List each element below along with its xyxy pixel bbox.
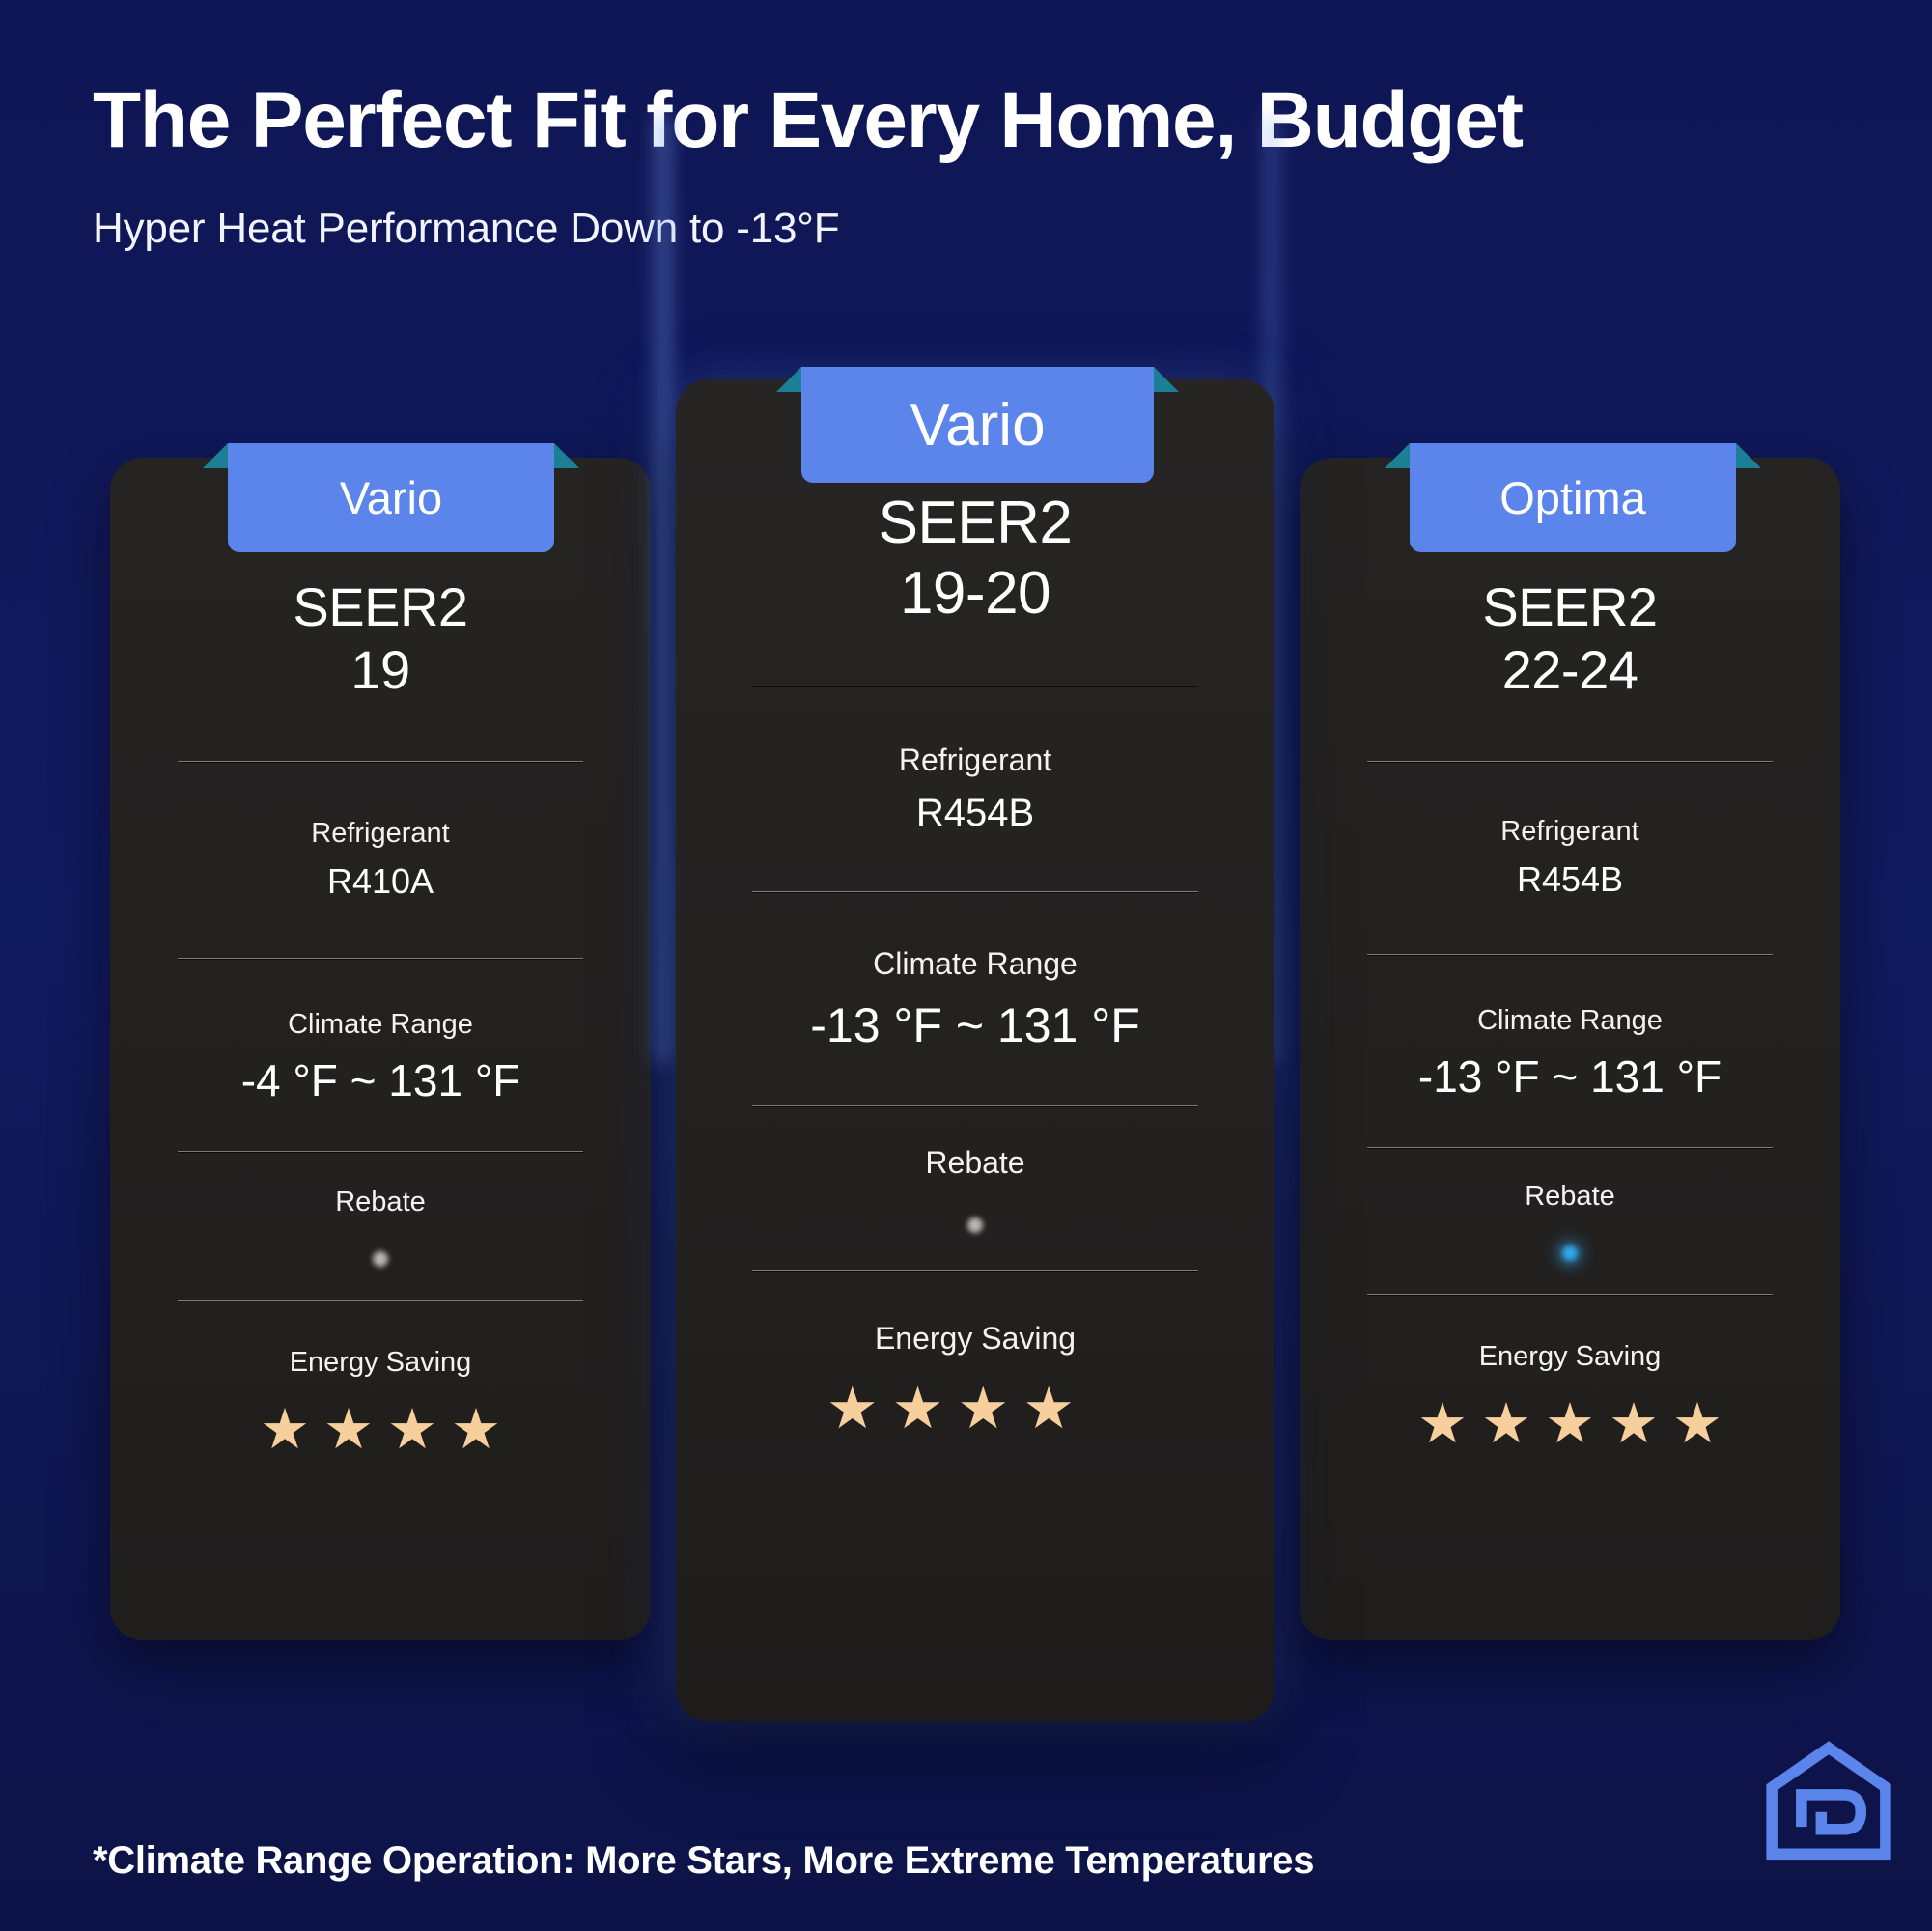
row-divider	[752, 686, 1198, 686]
rebate-indicator-dot	[373, 1251, 388, 1267]
star-icon: ★	[1672, 1396, 1722, 1452]
row-divider	[1367, 954, 1773, 955]
spec-energy-saving: Energy Saving ★★★★	[260, 1347, 501, 1458]
spec-value: -13 °F ~ 131 °F	[1418, 1050, 1722, 1103]
energy-saving-stars: ★★★★	[260, 1402, 501, 1458]
star-icon: ★	[260, 1402, 310, 1458]
spec-name: Climate Range	[1418, 1005, 1722, 1037]
ribbon-fold-right-icon	[554, 443, 579, 468]
card-banner-vario-19-20[interactable]: Vario	[801, 367, 1154, 483]
seer-label: SEER2	[879, 491, 1073, 556]
row-divider	[752, 1105, 1198, 1106]
spec-name: Rebate	[335, 1187, 426, 1218]
spec-name: Rebate	[925, 1145, 1024, 1181]
row-divider	[178, 958, 583, 959]
spec-value: -13 °F ~ 131 °F	[810, 997, 1140, 1053]
spec-value: R454B	[899, 792, 1051, 835]
card-banner-label: Vario	[910, 391, 1045, 460]
star-icon: ★	[1022, 1380, 1075, 1438]
star-icon: ★	[892, 1380, 944, 1438]
star-icon: ★	[1545, 1396, 1595, 1452]
spec-energy-saving: Energy Saving ★★★★★	[826, 1321, 1124, 1438]
seer-block: SEER2 19	[293, 578, 467, 705]
product-card-optima[interactable]: SEER2 22-24 Refrigerant R454B Climate Ra…	[1300, 458, 1840, 1640]
row-divider	[1367, 1147, 1773, 1148]
row-divider	[752, 1270, 1198, 1271]
row-divider	[178, 1151, 583, 1152]
spec-name: Energy Saving	[1417, 1341, 1722, 1373]
ribbon-fold-left-icon	[203, 443, 228, 468]
star-icon: ★	[1609, 1396, 1659, 1452]
product-card-vario-19[interactable]: SEER2 19 Refrigerant R410A Climate Range…	[110, 458, 651, 1640]
energy-saving-stars: ★★★★★	[1417, 1396, 1722, 1452]
spec-climate-range: Climate Range -13 °F ~ 131 °F	[810, 946, 1140, 1053]
star-icon: ★	[1417, 1396, 1468, 1452]
rebate-indicator-dot	[967, 1217, 983, 1233]
comparison-cards: SEER2 19 Refrigerant R410A Climate Range…	[0, 0, 1932, 1931]
star-icon: ★	[1481, 1396, 1531, 1452]
seer-value: 19-20	[879, 556, 1073, 631]
spec-value: -4 °F ~ 131 °F	[241, 1054, 520, 1106]
spec-name: Climate Range	[810, 946, 1140, 982]
house-logo	[1765, 1738, 1892, 1861]
spec-value: R410A	[311, 861, 449, 902]
row-divider	[752, 891, 1198, 892]
seer-value: 22-24	[1482, 636, 1657, 705]
infographic-canvas: The Perfect Fit for Every Home, Budget H…	[0, 0, 1932, 1931]
card-body: SEER2 19 Refrigerant R410A Climate Range…	[110, 458, 651, 1640]
seer-value: 19	[293, 636, 467, 705]
rebate-indicator-dot	[1562, 1245, 1578, 1261]
ribbon-fold-right-icon	[1736, 443, 1761, 468]
card-banner-optima[interactable]: Optima	[1410, 443, 1736, 552]
spec-climate-range: Climate Range -4 °F ~ 131 °F	[241, 1009, 520, 1106]
spec-rebate: Rebate	[335, 1187, 426, 1267]
spec-refrigerant: Refrigerant R454B	[1500, 816, 1638, 900]
card-body: SEER2 22-24 Refrigerant R454B Climate Ra…	[1300, 458, 1840, 1640]
card-banner-vario-19[interactable]: Vario	[228, 443, 554, 552]
spec-value: R454B	[1500, 859, 1638, 900]
spec-refrigerant: Refrigerant R410A	[311, 818, 449, 902]
center-card-glow-left	[649, 116, 674, 1062]
spec-name: Climate Range	[241, 1009, 520, 1041]
energy-saving-stars: ★★★★★	[826, 1380, 1124, 1438]
spec-name: Refrigerant	[311, 818, 449, 850]
spec-name: Energy Saving	[826, 1321, 1124, 1357]
product-card-vario-19-20[interactable]: SEER2 19-20 Refrigerant R454B Climate Ra…	[676, 379, 1274, 1721]
seer-label: SEER2	[293, 578, 467, 636]
row-divider	[1367, 1294, 1773, 1295]
spec-rebate: Rebate	[1525, 1181, 1615, 1261]
spec-name: Refrigerant	[1500, 816, 1638, 848]
row-divider	[178, 761, 583, 762]
star-icon: ★	[826, 1380, 879, 1438]
row-divider	[178, 1300, 583, 1301]
spec-climate-range: Climate Range -13 °F ~ 131 °F	[1418, 1005, 1722, 1103]
seer-label: SEER2	[1482, 578, 1657, 636]
spec-name: Energy Saving	[260, 1347, 501, 1379]
spec-energy-saving: Energy Saving ★★★★★	[1417, 1341, 1722, 1452]
card-body: SEER2 19-20 Refrigerant R454B Climate Ra…	[676, 379, 1274, 1721]
spec-name: Refrigerant	[899, 742, 1051, 778]
star-icon: ★	[387, 1402, 437, 1458]
spec-name: Rebate	[1525, 1181, 1615, 1213]
ribbon-fold-left-icon	[1385, 443, 1410, 468]
star-icon: ★	[323, 1402, 374, 1458]
row-divider	[1367, 761, 1773, 762]
seer-block: SEER2 19-20	[879, 491, 1073, 631]
star-icon: ★	[957, 1380, 1009, 1438]
card-banner-label: Optima	[1499, 471, 1646, 524]
seer-block: SEER2 22-24	[1482, 578, 1657, 705]
spec-rebate: Rebate	[925, 1145, 1024, 1233]
spec-refrigerant: Refrigerant R454B	[899, 742, 1051, 835]
footer-note: *Climate Range Operation: More Stars, Mo…	[93, 1839, 1314, 1883]
star-icon: ★	[451, 1402, 501, 1458]
card-banner-label: Vario	[340, 471, 442, 524]
